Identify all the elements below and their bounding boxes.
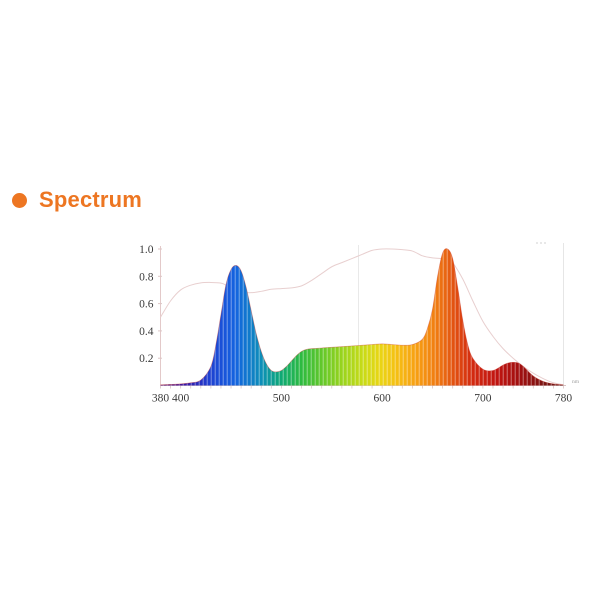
y-axis-ticks: 0.20.40.60.81.0 xyxy=(139,244,162,365)
spectrum-chart-svg: 0.20.40.60.81.0 380400500600700780 nm xyxy=(0,0,600,600)
spectrum-chart: 0.20.40.60.81.0 380400500600700780 nm xyxy=(0,0,600,600)
y-axis-tick-label: 0.6 xyxy=(139,299,154,311)
x-axis-tick-label: 380 xyxy=(152,393,170,405)
y-axis-tick-label: 0.8 xyxy=(139,271,154,283)
x-axis-tick-label: 700 xyxy=(474,393,492,405)
y-axis-tick-label: 0.4 xyxy=(139,326,154,338)
y-axis-tick-label: 0.2 xyxy=(139,353,154,365)
x-axis-minor-ticks xyxy=(161,386,564,389)
y-axis-tick-label: 1.0 xyxy=(139,244,154,256)
x-axis-tick-label: 400 xyxy=(172,393,190,405)
x-axis-tick-label: 600 xyxy=(374,393,392,405)
legend-dots-decoration xyxy=(536,242,546,244)
x-axis-ticks: 380400500600700780 xyxy=(152,393,573,405)
unit-label: nm xyxy=(572,379,580,385)
x-axis-tick-label: 780 xyxy=(555,393,573,405)
x-axis-tick-label: 500 xyxy=(273,393,291,405)
